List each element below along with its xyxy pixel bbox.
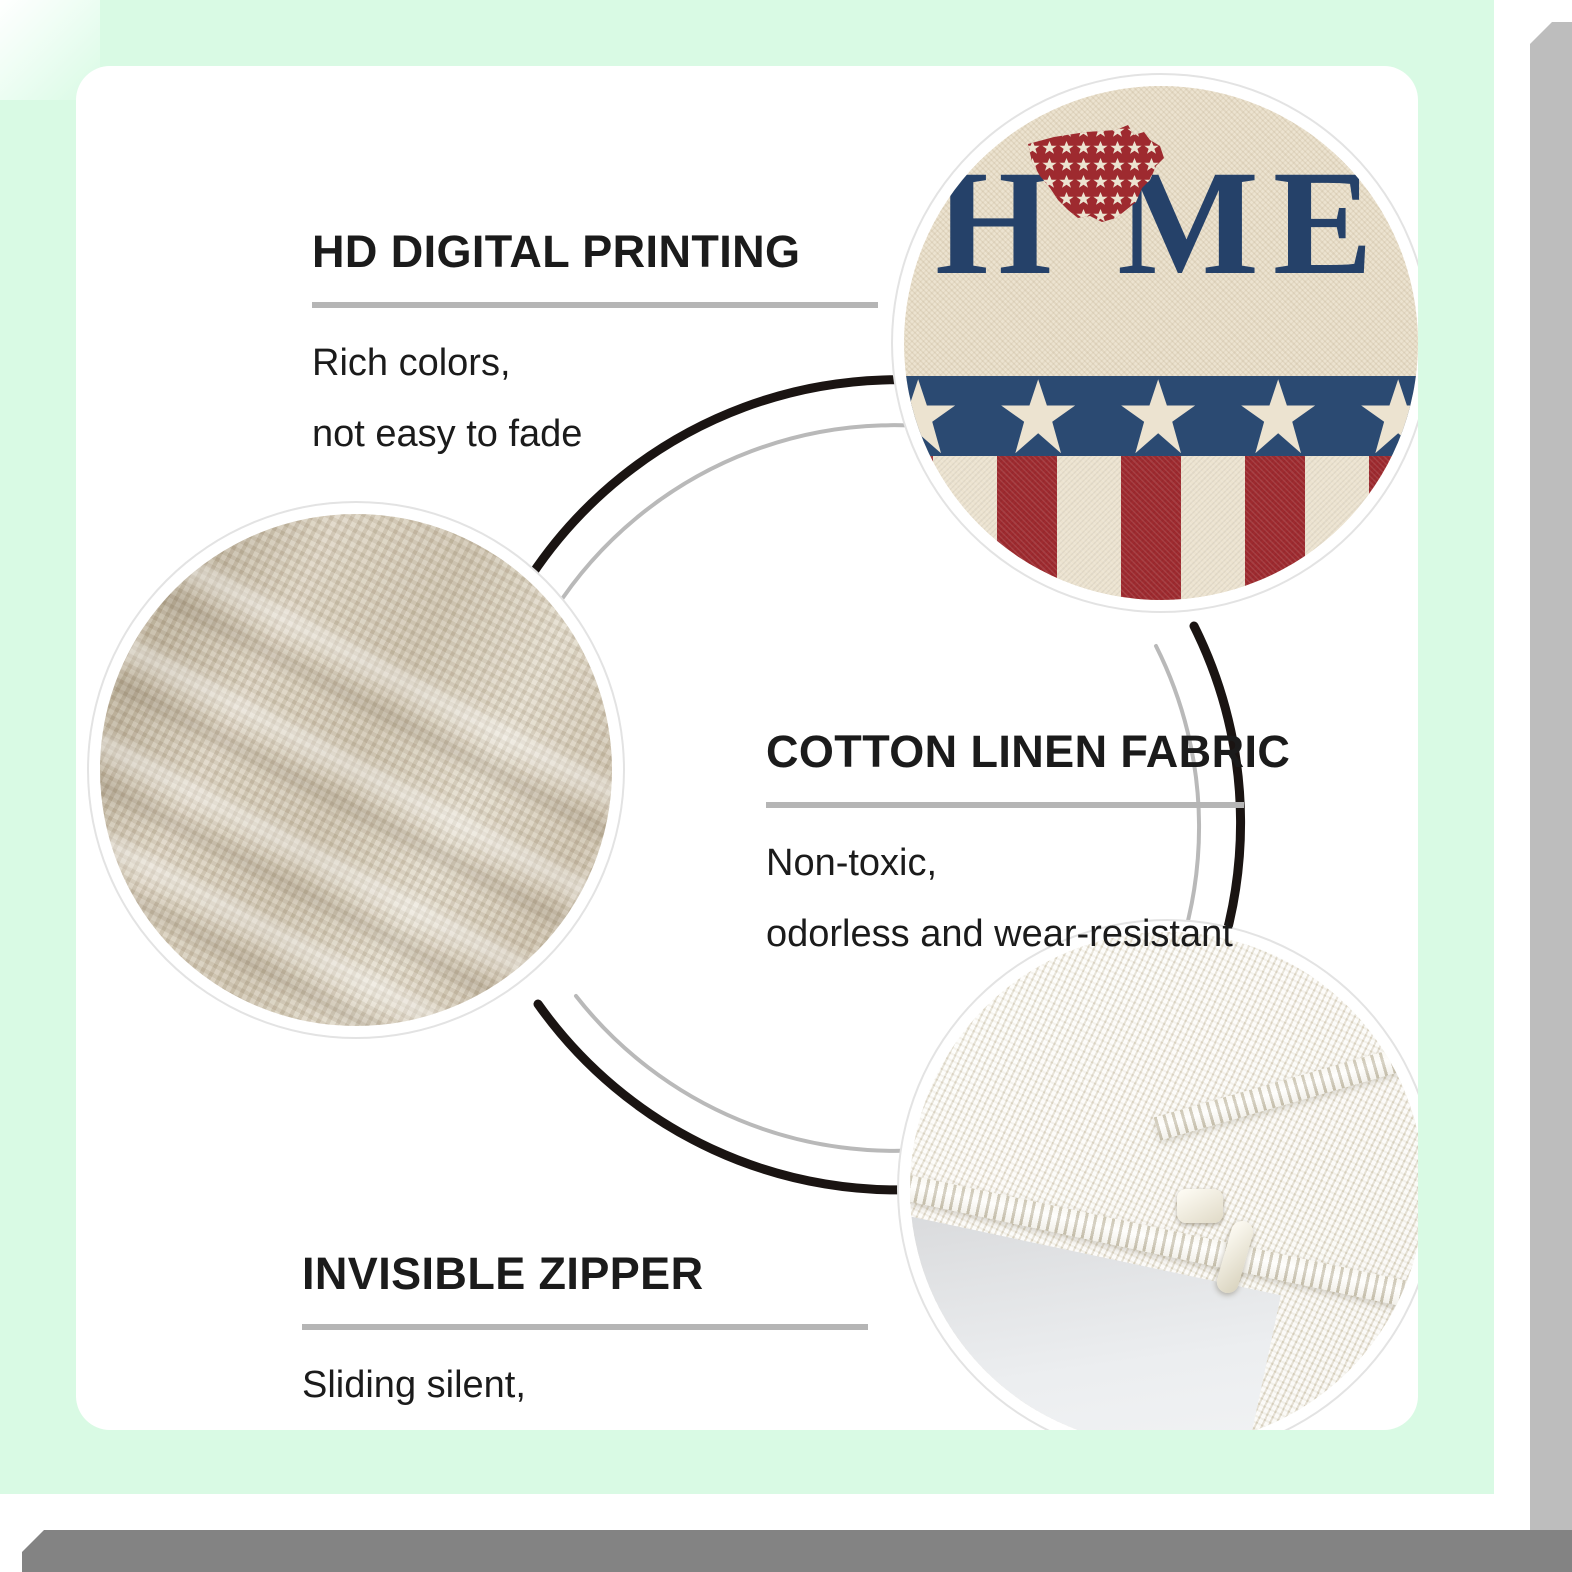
photo-linen-fabric-closeup[interactable] — [100, 514, 612, 1026]
flag-stripes — [904, 456, 1418, 600]
horizontal-scrollbar[interactable] — [22, 1530, 1572, 1572]
linen-fabric-image — [100, 514, 612, 1026]
zipper-image — [910, 932, 1418, 1430]
zipper-slider — [1177, 1189, 1223, 1223]
band-star — [1241, 379, 1315, 453]
content-card: H ME — [76, 66, 1418, 1430]
flag-pillow-image: H ME — [904, 86, 1418, 600]
feature-title: COTTON LINEN FABRIC — [766, 726, 1244, 778]
feature-line: Rich colors, — [312, 342, 878, 385]
band-star — [1001, 379, 1075, 453]
usa-map-icon — [1024, 122, 1170, 226]
arc-dark-bottom — [538, 1004, 938, 1190]
feature-title: INVISIBLE ZIPPER — [302, 1248, 868, 1300]
feature-line: not easy to fade — [312, 413, 878, 456]
product-infographic: H ME — [0, 0, 1572, 1572]
photo-invisible-zipper-closeup[interactable] — [910, 932, 1418, 1430]
feature-block-hd-digital-printing: HD DIGITAL PRINTING Rich colors, not eas… — [312, 226, 878, 456]
band-star — [1361, 379, 1418, 453]
title-divider — [766, 802, 1244, 808]
arc-light-bottom — [576, 996, 942, 1151]
vertical-scrollbar[interactable] — [1530, 22, 1572, 1550]
feature-line: odorless and wear-resistant — [766, 913, 1244, 956]
feature-block-cotton-linen-fabric: COTTON LINEN FABRIC Non-toxic, odorless … — [766, 726, 1244, 956]
band-star — [1121, 379, 1195, 453]
title-divider — [302, 1324, 868, 1330]
photo-flag-pillow-closeup[interactable]: H ME — [904, 86, 1418, 600]
feature-title: HD DIGITAL PRINTING — [312, 226, 878, 278]
star-band — [904, 376, 1418, 456]
feature-line: Sliding silent, — [302, 1364, 868, 1407]
feature-line: Non-toxic, — [766, 842, 1244, 885]
title-divider — [312, 302, 878, 308]
feature-block-invisible-zipper: INVISIBLE ZIPPER Sliding silent, easy to… — [302, 1248, 868, 1430]
band-star — [904, 379, 955, 453]
